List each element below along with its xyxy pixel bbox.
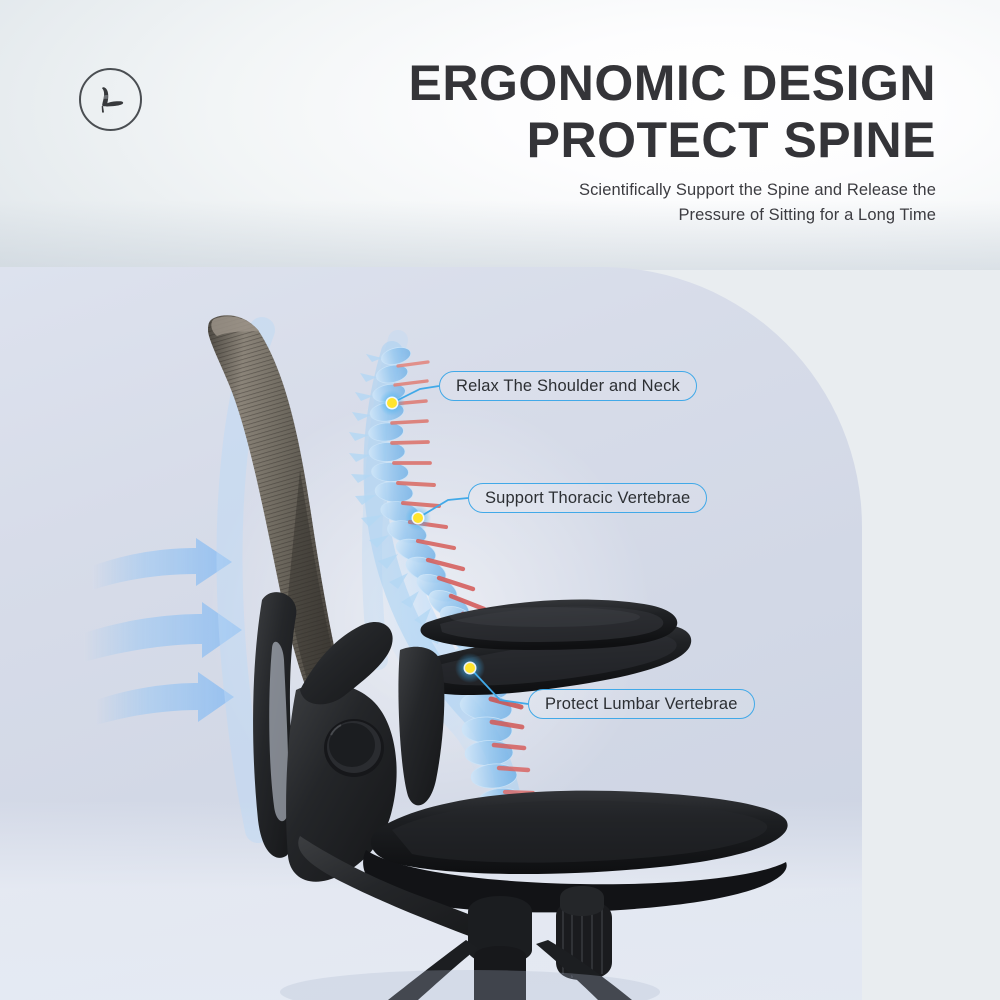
armrest-column [398,647,444,806]
office-chair-circle-icon [91,80,131,120]
marker-dot-1 [387,398,397,408]
callout-thoracic[interactable]: Support Thoracic Vertebrae [468,483,707,513]
page-title: ERGONOMIC DESIGN PROTECT SPINE [296,55,936,169]
infographic-canvas: ERGONOMIC DESIGN PROTECT SPINE Scientifi… [0,0,1000,1000]
marker-dot-2 [413,513,423,523]
office-chair [208,315,788,1000]
callout-lumbar[interactable]: Protect Lumbar Vertebrae [528,689,755,719]
airflow-arrow-3 [96,672,234,725]
subtitle-line-2: Pressure of Sitting for a Long Time [376,203,936,228]
page-subtitle: Scientifically Support the Spine and Rel… [376,178,936,228]
airflow-arrow-1 [92,538,232,590]
title-line-1: ERGONOMIC DESIGN [296,55,936,112]
marker-dot-3 [465,663,475,673]
callout-shoulder-neck[interactable]: Relax The Shoulder and Neck [439,371,697,401]
brand-logo [79,68,142,131]
subtitle-line-1: Scientifically Support the Spine and Rel… [376,178,936,203]
title-line-2: PROTECT SPINE [296,112,936,169]
